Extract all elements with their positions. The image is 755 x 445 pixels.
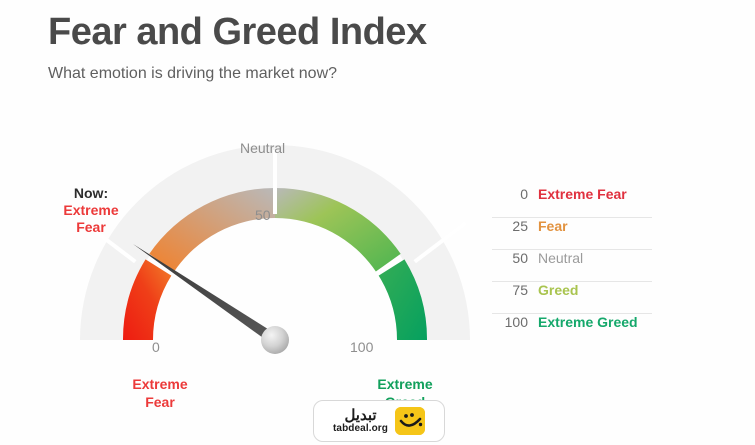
gauge-needle-hub <box>261 326 289 354</box>
gauge-label-extreme-fear-line2: Fear <box>100 394 220 412</box>
smiley-logo-icon <box>395 407 425 435</box>
gauge-label-neutral: Neutral <box>240 140 285 156</box>
legend-row: 50 Neutral <box>492 250 652 282</box>
now-label: Now: <box>48 185 134 202</box>
watermark-brand-en: tabdeal.org <box>333 424 388 435</box>
page-subtitle: What emotion is driving the market now? <box>48 54 648 83</box>
header: Fear and Greed Index What emotion is dri… <box>48 12 648 83</box>
gauge-tick-label-50: 50 <box>255 207 271 223</box>
gauge-label-extreme-fear-line1: Extreme <box>100 376 220 394</box>
legend-value: 0 <box>492 186 538 202</box>
watermark-brand-fa: تبدیل <box>344 408 376 424</box>
legend-value: 100 <box>492 314 538 330</box>
watermark-badge: تبدیل tabdeal.org <box>313 400 445 442</box>
legend-row: 100 Extreme Greed <box>492 314 652 345</box>
legend-label: Neutral <box>538 250 583 266</box>
legend-row: 0 Extreme Fear <box>492 186 652 218</box>
legend-value: 50 <box>492 250 538 266</box>
legend-label: Fear <box>538 218 568 234</box>
legend-label: Extreme Greed <box>538 314 638 330</box>
gauge-label-extreme-greed-line1: Extreme <box>340 376 470 394</box>
now-indicator: Now: Extreme Fear <box>48 185 134 236</box>
watermark-text: تبدیل tabdeal.org <box>333 408 388 434</box>
legend-value: 25 <box>492 218 538 234</box>
now-value-line2: Fear <box>48 219 134 236</box>
legend-label: Greed <box>538 282 578 298</box>
now-value-line1: Extreme <box>48 202 134 219</box>
legend-value: 75 <box>492 282 538 298</box>
gauge-tick-label-100: 100 <box>350 339 373 355</box>
gauge-label-extreme-fear: Extreme Fear <box>100 376 220 411</box>
gauge-tick-label-0: 0 <box>152 339 160 355</box>
legend-row: 75 Greed <box>492 282 652 314</box>
legend-row: 25 Fear <box>492 218 652 250</box>
page-title: Fear and Greed Index <box>48 12 648 54</box>
fear-greed-gauge: Neutral 50 0 100 Now: Extreme Fear Extre… <box>40 130 510 430</box>
legend: 0 Extreme Fear 25 Fear 50 Neutral 75 Gre… <box>492 186 652 345</box>
legend-label: Extreme Fear <box>538 186 627 202</box>
